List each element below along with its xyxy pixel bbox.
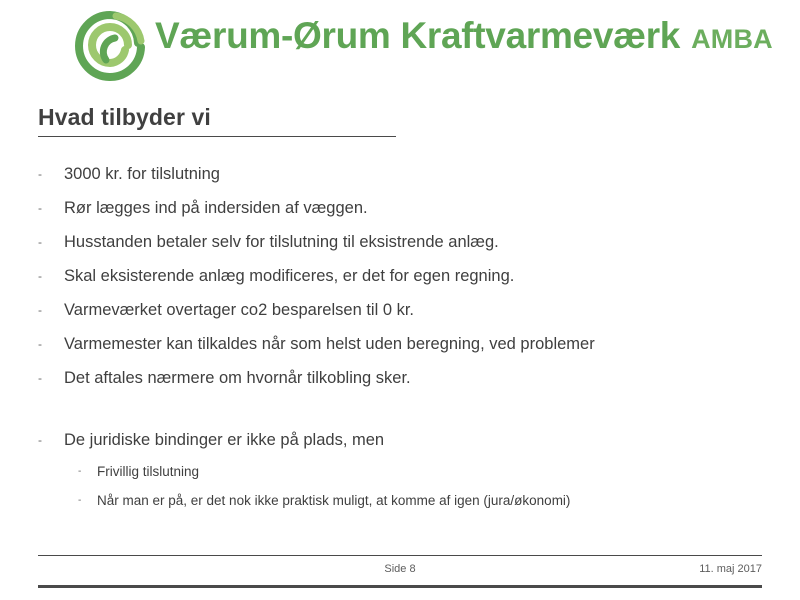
list-item-label: 3000 kr. for tilslutning bbox=[64, 165, 220, 183]
slide-header: Værum-Ørum Kraftvarmeværk AMBA bbox=[0, 0, 800, 90]
list-item-label: Varmemester kan tilkaldes når som helst … bbox=[64, 335, 595, 353]
list-item-label: Når man er på, er det nok ikke praktisk … bbox=[97, 493, 570, 508]
brand-name: Værum-Ørum Kraftvarmeværk bbox=[155, 17, 680, 54]
list-item-label: Det aftales nærmere om hvornår tilkoblin… bbox=[64, 369, 411, 387]
list-item-label: Skal eksisterende anlæg modificeres, er … bbox=[64, 267, 514, 285]
bullet-marker-icon: - bbox=[38, 259, 42, 293]
bullet-marker-icon: - bbox=[38, 293, 42, 327]
list-spacer bbox=[0, 395, 800, 423]
list-item: - Det aftales nærmere om hvornår tilkobl… bbox=[0, 361, 800, 395]
footer-content: Side 8 11. maj 2017 bbox=[38, 556, 762, 585]
list-item: - De juridiske bindinger er ikke på plad… bbox=[0, 423, 800, 457]
list-item-label: Varmeværket overtager co2 besparelsen ti… bbox=[64, 301, 414, 319]
bullet-marker-icon: - bbox=[38, 327, 42, 361]
list-item: - Rør lægges ind på indersiden af væggen… bbox=[0, 191, 800, 225]
title-underline-rule bbox=[38, 136, 396, 137]
list-item: - Skal eksisterende anlæg modificeres, e… bbox=[0, 259, 800, 293]
bullet-marker-icon: - bbox=[38, 361, 42, 395]
list-item-label: Frivillig tilslutning bbox=[97, 464, 199, 479]
list-item-label: Husstanden betaler selv for tilslutning … bbox=[64, 233, 499, 251]
bullet-marker-icon: - bbox=[38, 191, 42, 225]
page-title: Hvad tilbyder vi bbox=[38, 104, 211, 131]
bullet-list: - 3000 kr. for tilslutning - Rør lægges … bbox=[0, 157, 800, 515]
green-spiral-logo-icon bbox=[68, 3, 152, 87]
list-item: - 3000 kr. for tilslutning bbox=[0, 157, 800, 191]
bullet-marker-icon: - bbox=[78, 486, 81, 515]
brand-suffix: AMBA bbox=[691, 26, 773, 53]
bullet-marker-icon: - bbox=[38, 423, 42, 457]
list-item-label: De juridiske bindinger er ikke på plads,… bbox=[64, 431, 384, 449]
list-item-label: Rør lægges ind på indersiden af væggen. bbox=[64, 199, 368, 217]
slide-footer: Side 8 11. maj 2017 bbox=[38, 555, 762, 589]
footer-date: 11. maj 2017 bbox=[699, 563, 762, 575]
slide-canvas: Værum-Ørum Kraftvarmeværk AMBA Hvad tilb… bbox=[0, 0, 800, 600]
bullet-marker-icon: - bbox=[38, 157, 42, 191]
bullet-marker-icon: - bbox=[78, 457, 81, 486]
list-item: - Husstanden betaler selv for tilslutnin… bbox=[0, 225, 800, 259]
bullet-marker-icon: - bbox=[38, 225, 42, 259]
footer-page-number: Side 8 bbox=[38, 563, 762, 575]
list-item: - Frivillig tilslutning bbox=[0, 457, 800, 486]
list-item: - Varmeværket overtager co2 besparelsen … bbox=[0, 293, 800, 327]
list-item: - Når man er på, er det nok ikke praktis… bbox=[0, 486, 800, 515]
footer-rule-bottom bbox=[38, 585, 762, 588]
brand-title: Værum-Ørum Kraftvarmeværk AMBA bbox=[155, 17, 773, 73]
list-item: - Varmemester kan tilkaldes når som hels… bbox=[0, 327, 800, 361]
